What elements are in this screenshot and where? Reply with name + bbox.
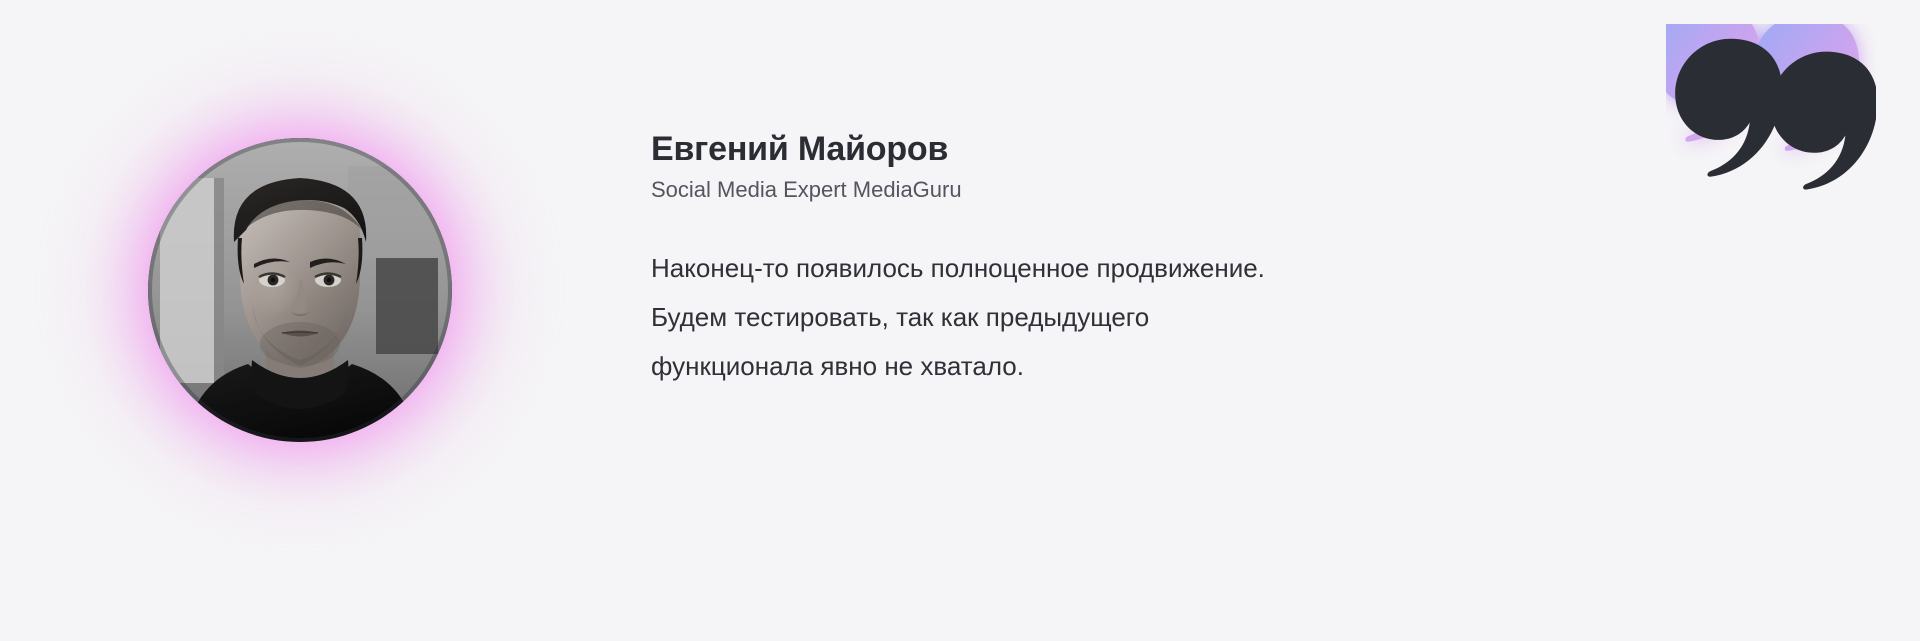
quote-line: Наконец-то появилось полноценное продвиж… [651,244,1551,293]
person-role: Social Media Expert MediaGuru [651,175,962,206]
avatar [148,138,452,442]
quote-mark-icon [1666,24,1876,214]
avatar-block [60,0,540,640]
testimonial-card: Евгений Майоров Social Media Expert Medi… [0,0,1920,641]
quote-line: Будем тестировать, так как предыдущего [651,293,1551,342]
quote-line: функционала явно не хватало. [651,342,1551,391]
quote-text: Наконец-то появилось полноценное продвиж… [651,244,1551,391]
avatar-photo [148,138,452,442]
person-name: Евгений Майоров [651,129,948,170]
testimonial-content: Евгений Майоров Social Media Expert Medi… [651,0,1551,641]
